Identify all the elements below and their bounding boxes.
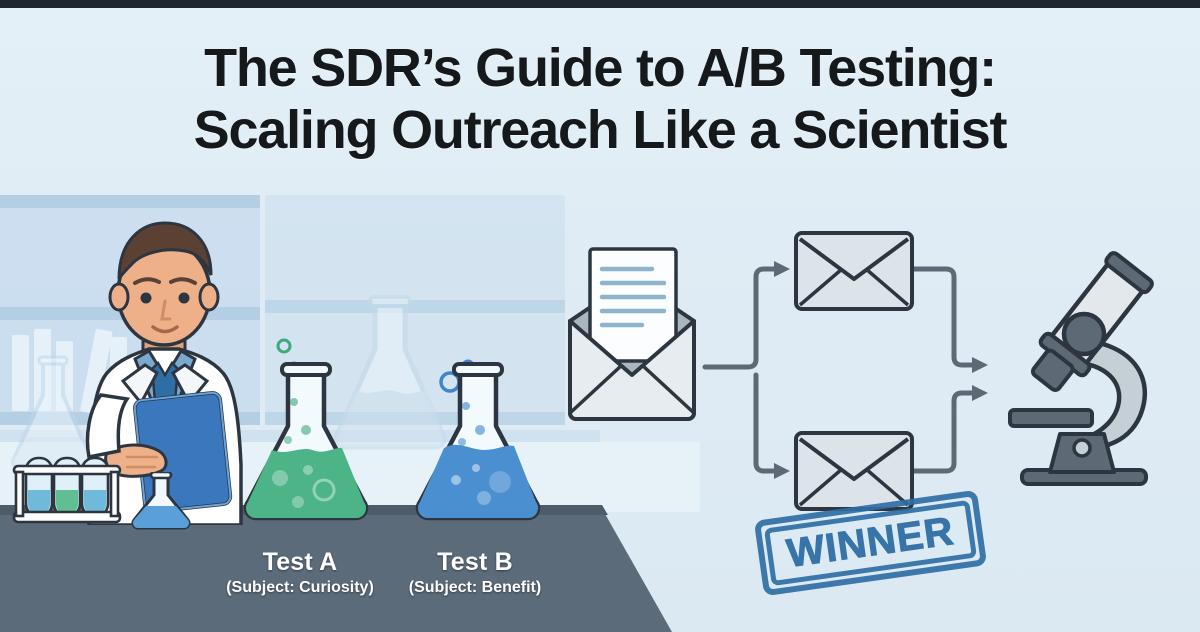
top-divider-rule [0, 0, 1200, 8]
open-envelope-icon [570, 249, 694, 419]
microscope-icon [1000, 248, 1180, 498]
flask-a-label-main: Test A [200, 548, 400, 577]
title-line-1: The SDR’s Guide to A/B Testing: [0, 38, 1200, 100]
variant-b-envelope-icon [796, 433, 912, 509]
flask-a-label: Test A (Subject: Curiosity) [200, 548, 400, 597]
hero-banner: The SDR’s Guide to A/B Testing: Scaling … [0, 0, 1200, 632]
variant-a-envelope-icon [796, 233, 912, 309]
page-title: The SDR’s Guide to A/B Testing: Scaling … [0, 38, 1200, 161]
flask-a-icon [232, 330, 380, 530]
ab-test-flow-diagram [560, 225, 1060, 515]
small-flask-icon [128, 472, 194, 534]
test-tube-rack-icon [12, 450, 122, 530]
flask-b-label: Test B (Subject: Benefit) [375, 548, 575, 597]
title-line-2: Scaling Outreach Like a Scientist [0, 100, 1200, 162]
flask-b-icon [404, 330, 552, 530]
flask-b-label-main: Test B [375, 548, 575, 577]
flask-b-label-sub: (Subject: Benefit) [375, 579, 575, 597]
flask-a-label-sub: (Subject: Curiosity) [200, 579, 400, 597]
